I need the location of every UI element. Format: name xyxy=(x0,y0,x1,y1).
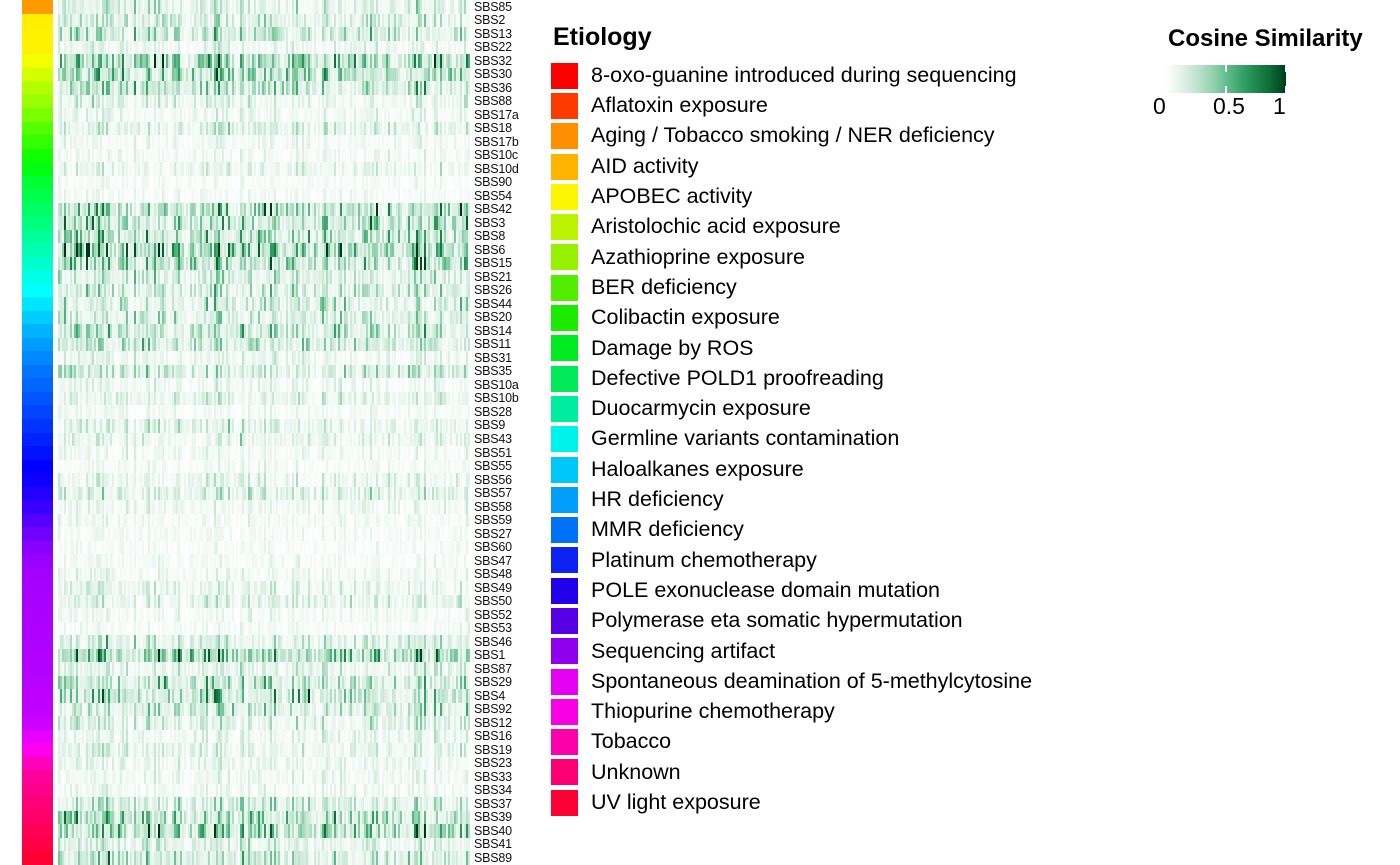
heatmap-row xyxy=(58,162,470,176)
heatmap-cell xyxy=(468,81,470,95)
heatmap-row xyxy=(58,122,470,136)
heatmap-row xyxy=(58,95,470,109)
heatmap-row xyxy=(58,230,470,244)
heatmap-cell xyxy=(468,243,470,257)
row-annotation-cell xyxy=(22,95,53,109)
row-annotation-cell xyxy=(22,338,53,352)
row-annotation-cell xyxy=(22,689,53,703)
row-annotation-cell xyxy=(22,473,53,487)
heatmap-row xyxy=(58,135,470,149)
heatmap-row xyxy=(58,41,470,55)
row-annotation-cell xyxy=(22,149,53,163)
heatmap-cell xyxy=(468,0,470,14)
row-annotation-cell xyxy=(22,446,53,460)
row-annotation-cell xyxy=(22,460,53,474)
heatmap-cell xyxy=(468,203,470,217)
row-annotation-cell xyxy=(22,270,53,284)
row-annotation-cell xyxy=(22,203,53,217)
row-annotation-cell xyxy=(22,541,53,555)
row-annotation-cell xyxy=(22,378,53,392)
heatmap-row xyxy=(58,54,470,68)
row-annotation-cell xyxy=(22,433,53,447)
heatmap-cell xyxy=(468,162,470,176)
row-annotation-cell xyxy=(22,797,53,811)
row-annotation-cell xyxy=(22,419,53,433)
heatmap-cell xyxy=(468,297,470,311)
row-annotation-cell xyxy=(22,162,53,176)
row-annotation-cell xyxy=(22,122,53,136)
heatmap-cell xyxy=(468,27,470,41)
row-annotation-cell xyxy=(22,487,53,501)
row-annotation-cell xyxy=(22,622,53,636)
row-annotation-cell xyxy=(22,703,53,717)
row-annotation-cell xyxy=(22,135,53,149)
row-annotation-cell xyxy=(22,365,53,379)
row-annotation-cell xyxy=(22,324,53,338)
heatmap-cell xyxy=(468,95,470,109)
row-annotation-color-strip xyxy=(22,0,53,865)
row-annotation-cell xyxy=(22,595,53,609)
heatmap-cell xyxy=(468,270,470,284)
row-annotation-cell xyxy=(22,54,53,68)
heatmap-cell xyxy=(468,54,470,68)
row-annotation-cell xyxy=(22,176,53,190)
row-annotation-cell xyxy=(22,27,53,41)
heatmap-row xyxy=(58,149,470,163)
row-annotation-cell xyxy=(22,108,53,122)
heatmap-cell xyxy=(468,68,470,82)
heatmap-cell xyxy=(468,216,470,230)
heatmap-row xyxy=(58,81,470,95)
row-annotation-cell xyxy=(22,662,53,676)
row-annotation-cell xyxy=(22,784,53,798)
row-annotation-cell xyxy=(22,284,53,298)
row-annotation-cell xyxy=(22,68,53,82)
row-annotation-cell xyxy=(22,81,53,95)
heatmap-cell xyxy=(468,189,470,203)
heatmap-cell xyxy=(468,41,470,55)
row-annotation-cell xyxy=(22,554,53,568)
row-annotation-cell xyxy=(22,824,53,838)
heatmap-cell xyxy=(468,176,470,190)
heatmap-row xyxy=(58,284,470,298)
row-annotation-cell xyxy=(22,649,53,663)
heatmap-cell xyxy=(468,257,470,271)
heatmap-cell xyxy=(468,14,470,28)
row-annotation-cell xyxy=(22,811,53,825)
heatmap-cell xyxy=(468,230,470,244)
heatmap-cell xyxy=(468,149,470,163)
row-annotation-cell xyxy=(22,257,53,271)
heatmap-row xyxy=(58,14,470,28)
row-annotation-cell xyxy=(22,851,53,865)
row-annotation-cell xyxy=(22,770,53,784)
heatmap-row xyxy=(58,176,470,190)
heatmap-row xyxy=(58,108,470,122)
heatmap-row xyxy=(58,189,470,203)
row-annotation-cell xyxy=(22,743,53,757)
row-annotation-cell xyxy=(22,757,53,771)
row-annotation-cell xyxy=(22,351,53,365)
heatmap-row xyxy=(58,27,470,41)
heatmap-panel: SBS85SBS2SBS13SBS22SBS32SBS30SBS36SBS88S… xyxy=(0,0,535,865)
row-annotation-cell xyxy=(22,230,53,244)
heatmap-row xyxy=(58,68,470,82)
heatmap-row xyxy=(58,311,470,325)
heatmap-cell xyxy=(468,108,470,122)
heatmap-row xyxy=(58,270,470,284)
row-annotation-cell xyxy=(22,838,53,852)
row-annotation-cell xyxy=(22,635,53,649)
row-annotation-cell xyxy=(22,14,53,28)
heatmap-cell xyxy=(468,135,470,149)
row-annotation-cell xyxy=(22,514,53,528)
heatmap-grid xyxy=(58,0,470,865)
row-annotation-cell xyxy=(22,0,53,14)
heatmap-row xyxy=(58,243,470,257)
heatmap-row xyxy=(58,0,470,14)
heatmap-cell xyxy=(468,122,470,136)
row-annotation-cell xyxy=(22,392,53,406)
row-annotation-cell xyxy=(22,608,53,622)
heatmap-row xyxy=(58,216,470,230)
row-annotation-cell xyxy=(22,297,53,311)
heatmap-cell xyxy=(468,284,470,298)
heatmap-row xyxy=(58,203,470,217)
row-annotation-cell xyxy=(22,716,53,730)
row-annotation-cell xyxy=(22,311,53,325)
row-annotation-cell xyxy=(22,216,53,230)
row-annotation-cell xyxy=(22,568,53,582)
row-annotation-cell xyxy=(22,730,53,744)
row-annotation-cell xyxy=(22,676,53,690)
row-annotation-cell xyxy=(22,527,53,541)
heatmap-row xyxy=(58,297,470,311)
row-annotation-cell xyxy=(22,405,53,419)
row-annotation-cell xyxy=(22,189,53,203)
heatmap-row xyxy=(58,257,470,271)
row-annotation-cell xyxy=(22,581,53,595)
row-annotation-cell xyxy=(22,500,53,514)
row-annotation-cell xyxy=(22,41,53,55)
row-annotation-cell xyxy=(22,243,53,257)
